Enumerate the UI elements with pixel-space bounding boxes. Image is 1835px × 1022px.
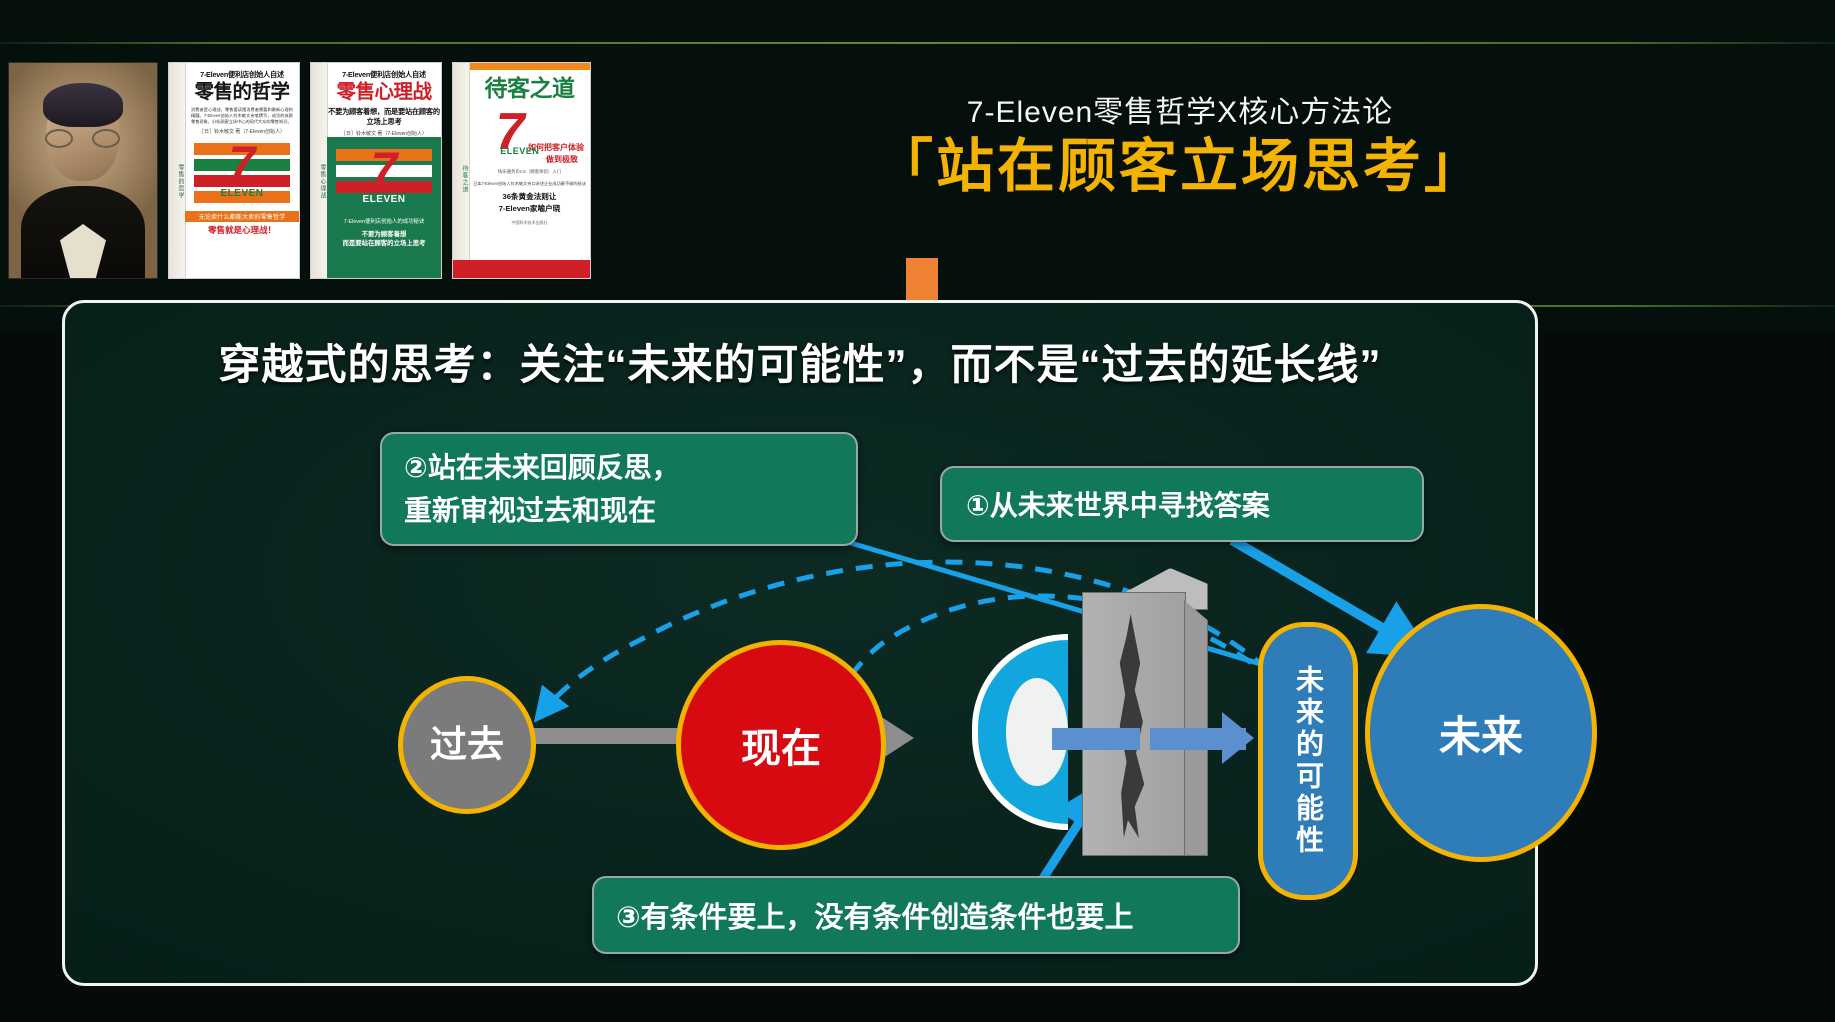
book-3-sub3: 快乐服务のCS（顾客体验）入门 (469, 169, 590, 175)
connector-past-to-now (518, 728, 692, 744)
portrait-photo (8, 62, 158, 279)
book-2-green-panel: 7 ELEVEN 7-Eleven便利店创始人的成功秘诀 不要为顾客着想 而是要… (327, 137, 441, 278)
book-3-bottom-accent (453, 260, 590, 278)
callout-2-line1: ②站在未来回顾反思， (404, 446, 680, 489)
glasses-right-icon (92, 129, 120, 148)
book-2-title: 零售心理战 (327, 83, 441, 103)
callout-2-line2: 重新审视过去和现在 (404, 489, 680, 532)
book-1-foot: 零售就是心理战！ (185, 224, 299, 236)
book-2-author: ［日］铃木敏文 著（7-Eleven创始人） (327, 130, 441, 137)
book-3-foot-small: 日本7-Eleven创始人铃木敏文亲口讲述企业成功最不做的秘诀 (469, 181, 590, 187)
book-3-foot-line2: 7-Eleven家喻户晓 (469, 203, 590, 214)
title-main: 「站在顾客立场思考」 (860, 133, 1500, 201)
callout-2[interactable]: ②站在未来回顾反思， 重新审视过去和现在 (380, 432, 858, 546)
title-subtitle: 7-Eleven零售哲学X核心方法论 (860, 96, 1500, 131)
node-future-label: 未来 (1439, 703, 1523, 764)
page-title: 7-Eleven零售哲学X核心方法论 「站在顾客立场思考」 (860, 96, 1500, 201)
node-future[interactable]: 未来 (1365, 604, 1597, 862)
callout-1[interactable]: ①从未来世界中寻找答案 (940, 466, 1424, 542)
book-2-foot-line2: 而是要站在顾客的立场上思考 (327, 239, 441, 248)
book-cover-1: 零售的哲学 7-Eleven便利店创始人自述 零售的哲学 消费者是心理战，零售要… (168, 62, 300, 279)
book-3-publisher: 中国科学技术出版社 (469, 220, 590, 226)
book-1-blurb: 消费者是心理战，零售要读懂消费者需要和最新心理的精髓。7-Eleven创始人铃木… (191, 107, 293, 125)
seven-eleven-logo-icon: 7 ELEVEN (469, 104, 590, 160)
book-1-subtitle: 7-Eleven便利店创始人自述 (185, 70, 299, 80)
book-3-spine: 待客之道 (453, 63, 470, 278)
node-past-label: 过去 (430, 725, 504, 764)
book-2-foot-line1: 不要为顾客着想 (327, 230, 441, 239)
node-past[interactable]: 过去 (398, 676, 536, 814)
callout-3[interactable]: ③有条件要上，没有条件创造条件也要上 (592, 876, 1240, 954)
slide-canvas: 零售的哲学 7-Eleven便利店创始人自述 零售的哲学 消费者是心理战，零售要… (0, 0, 1835, 1022)
callout-1-text: ①从未来世界中寻找答案 (966, 484, 1270, 524)
blue-arrow-into-wall (1052, 728, 1140, 750)
book-cover-2: 零售心理战 7-Eleven便利店创始人自述 零售心理战 不要为顾客着想，而是要… (310, 62, 442, 279)
book-1-band: 无论卖什么都能大卖的零售哲学 (185, 211, 299, 222)
header-rule-top (0, 42, 1835, 44)
seven-eleven-logo-icon: 7 ELEVEN (185, 139, 299, 209)
book-2-tagline: 不要为顾客着想，而是要站在顾客的立场上思考 (327, 107, 441, 127)
node-possibility-label: 未来的可能性 (1294, 665, 1322, 857)
node-now-label: 现在 (741, 716, 821, 774)
book-2-spine: 零售心理战 (311, 63, 328, 278)
book-3-foot-line1: 36条黄金法则让 (469, 191, 590, 202)
portrait-hair (43, 83, 123, 127)
node-now[interactable]: 现在 (676, 640, 886, 850)
book-1-author: ［日］铃木敏文 著（7-Eleven创始人） (185, 128, 299, 135)
glasses-left-icon (45, 129, 73, 148)
header-thumbnails: 零售的哲学 7-Eleven便利店创始人自述 零售的哲学 消费者是心理战，零售要… (8, 62, 591, 279)
seven-eleven-logo-icon: 7 ELEVEN (327, 145, 441, 215)
book-2-foot-small: 7-Eleven便利店创始人的成功秘诀 (327, 219, 441, 227)
node-possibility[interactable]: 未来的可能性 (1258, 622, 1358, 900)
board-heading: 穿越式的思考：关注“未来的可能性”，而不是“过去的延长线” (65, 331, 1535, 392)
book-1-spine: 零售的哲学 (169, 63, 186, 278)
blue-arrowhead (1222, 712, 1254, 764)
callout-3-text: ③有条件要上，没有条件创造条件也要上 (616, 894, 1134, 936)
book-cover-3: 待客之道 待客之道 7 ELEVEN 如何把客户体验 做到极致 快乐服务のCS（… (452, 62, 591, 279)
book-3-title: 待客之道 (469, 77, 590, 100)
book-2-subtitle: 7-Eleven便利店创始人自述 (327, 70, 441, 80)
book-1-title: 零售的哲学 (185, 83, 299, 103)
